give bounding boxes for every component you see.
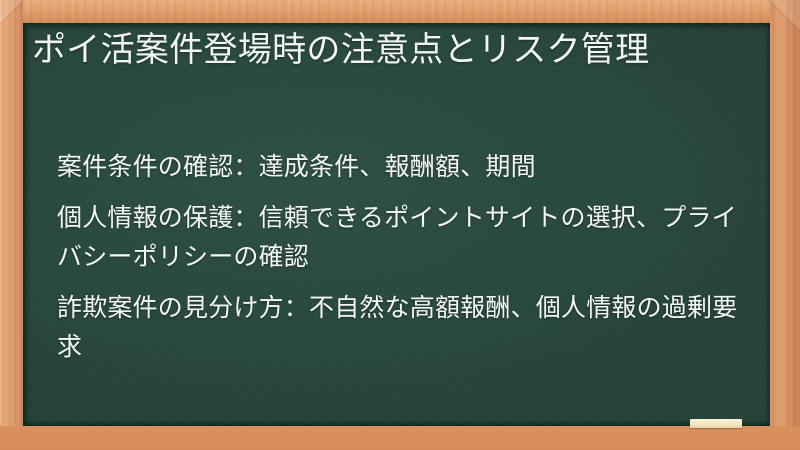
frame-miter-top-left: [0, 0, 24, 24]
bullet-item: 個人情報の保護：信頼できるポイントサイトの選択、プライバシーポリシーの確認: [57, 198, 757, 276]
wooden-frame-top: [0, 0, 800, 23]
wooden-frame-left: [0, 0, 23, 450]
wooden-frame-bottom-ledge: [0, 426, 800, 450]
slide-title: ポイ活案件登場時の注意点とリスク管理: [32, 28, 758, 72]
frame-miter-top-right: [769, 0, 800, 31]
chalkboard-slide: ポイ活案件登場時の注意点とリスク管理 案件条件の確認：達成条件、報酬額、期間 個…: [0, 0, 800, 450]
wooden-frame-right: [770, 0, 800, 450]
bullet-list: 案件条件の確認：達成条件、報酬額、期間 個人情報の保護：信頼できるポイントサイト…: [57, 147, 757, 366]
bullet-item: 詐欺案件の見分け方：不自然な高額報酬、個人情報の過剰要求: [57, 288, 757, 366]
slide-content: ポイ活案件登場時の注意点とリスク管理 案件条件の確認：達成条件、報酬額、期間 個…: [23, 23, 770, 426]
bullet-item: 案件条件の確認：達成条件、報酬額、期間: [57, 147, 757, 186]
